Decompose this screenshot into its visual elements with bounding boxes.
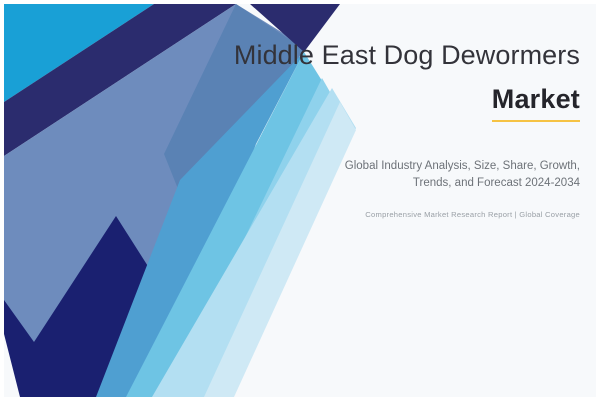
- cover-text-block: Middle East Dog Dewormers Market Global …: [160, 40, 580, 219]
- accent-title-wrapper: Market: [160, 85, 580, 122]
- subtitle: Global Industry Analysis, Size, Share, G…: [160, 158, 580, 194]
- page-title: Middle East Dog Dewormers: [160, 40, 580, 72]
- accent-title: Market: [492, 85, 580, 122]
- subtitle-line-2: Trends, and Forecast 2024-2034: [160, 175, 580, 193]
- subtitle-line-1: Global Industry Analysis, Size, Share, G…: [160, 158, 580, 176]
- tagline: Comprehensive Market Research Report | G…: [160, 210, 580, 219]
- report-cover: Middle East Dog Dewormers Market Global …: [0, 0, 600, 400]
- cover-canvas: Middle East Dog Dewormers Market Global …: [4, 4, 596, 397]
